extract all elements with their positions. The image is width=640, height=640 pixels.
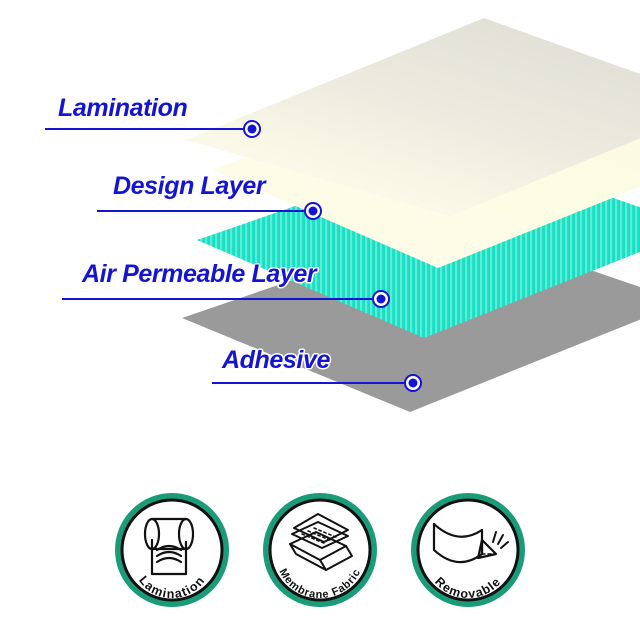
callout-dot-air-permeable-layer[interactable] bbox=[372, 290, 390, 308]
badge-removable[interactable]: Removable bbox=[410, 492, 526, 608]
callout-label-air-permeable-layer: Air Permeable Layer bbox=[82, 262, 316, 287]
callout-dot-design-layer[interactable] bbox=[304, 202, 322, 220]
callout-dot-lamination[interactable] bbox=[243, 120, 261, 138]
callout-label-design-layer: Design Layer bbox=[113, 174, 265, 199]
feature-badges: Lamination bbox=[0, 492, 640, 620]
callout-rule-adhesive bbox=[212, 382, 411, 384]
callout-rule-air-permeable-layer bbox=[62, 298, 379, 300]
badge-lamination[interactable]: Lamination bbox=[114, 492, 230, 608]
diagram-canvas: Lamination Design Layer Air Permeable La… bbox=[0, 0, 640, 640]
callout-label-lamination: Lamination bbox=[58, 96, 187, 121]
callout-label-adhesive: Adhesive bbox=[222, 348, 330, 373]
badge-membrane-fabric[interactable]: Membrane Fabric bbox=[262, 492, 378, 608]
callout-dot-adhesive[interactable] bbox=[404, 374, 422, 392]
callout-rule-lamination bbox=[45, 128, 250, 130]
callout-rule-design-layer bbox=[97, 210, 311, 212]
